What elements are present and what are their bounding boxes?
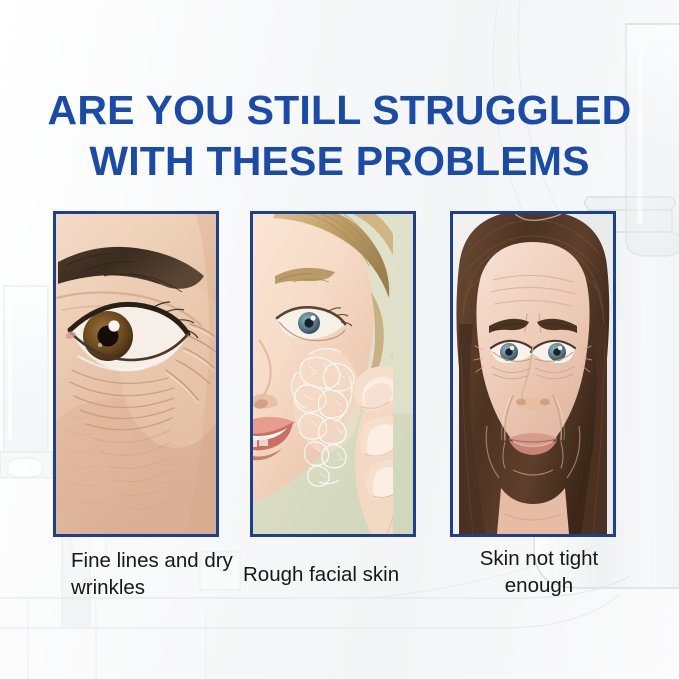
closeup-aging-eye-with-crows-feet-photo [56,214,216,534]
problem-caption-2: Rough facial skin [243,561,439,588]
problem-caption-3: Skin not tight enough [451,545,627,599]
headline-line-1: ARE YOU STILL STRUGGLED [0,85,679,136]
page-title: ARE YOU STILL STRUGGLED WITH THESE PROBL… [0,85,679,187]
problem-photo-frame-3 [450,211,616,537]
middle-aged-woman-sagging-facial-skin-photo [453,214,613,534]
headline-line-2: WITH THESE PROBLEMS [0,136,679,187]
problem-photo-frame-1 [53,211,219,537]
problem-photo-frame-2 [250,211,416,537]
promo-graphic: ARE YOU STILL STRUGGLED WITH THESE PROBL… [0,0,679,679]
young-woman-touching-dry-cracked-cheek-photo [253,214,413,534]
problem-caption-1: Fine lines and dry wrinkles [71,547,251,601]
